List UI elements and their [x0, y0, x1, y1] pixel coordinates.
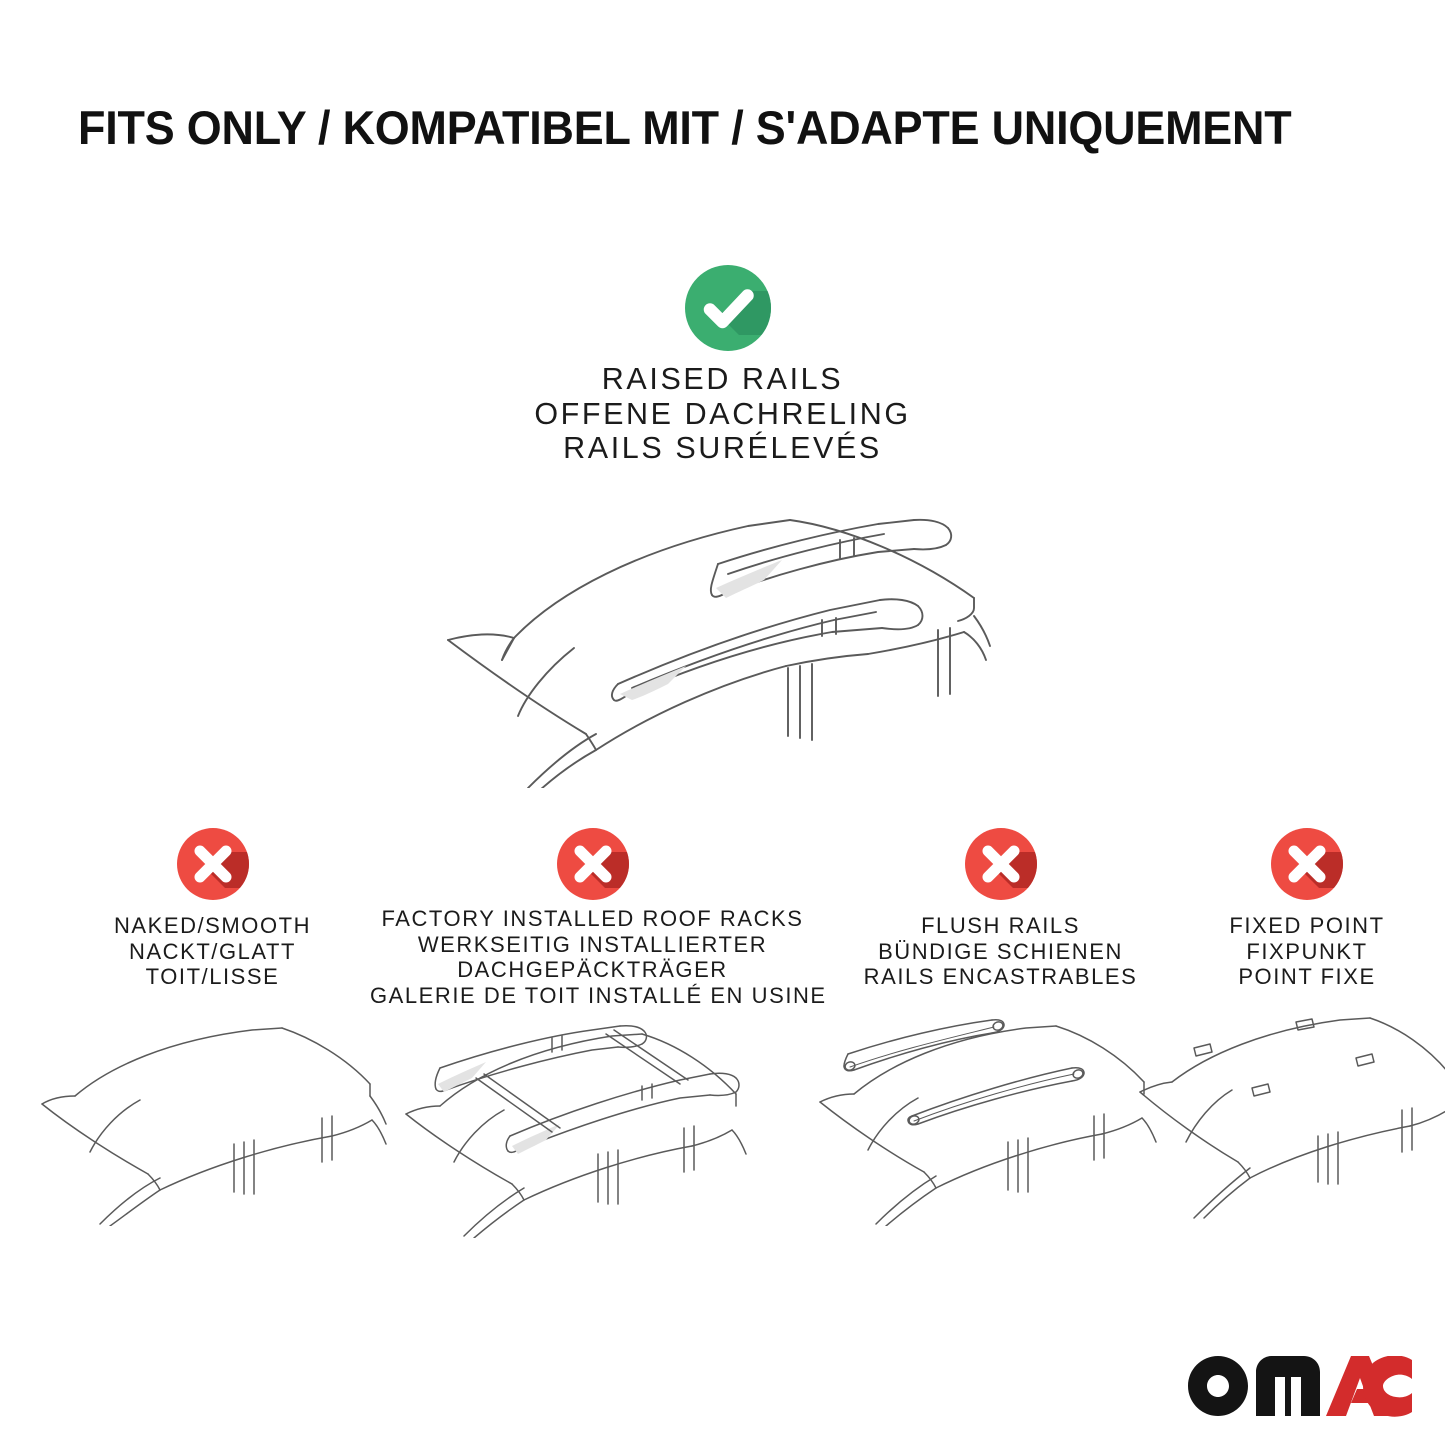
option-line-fr: TOIT/LISSE [25, 964, 400, 990]
car-roof-with-fixed-points-illustration [1132, 996, 1445, 1226]
option-line-en: FLUSH RAILS [828, 913, 1173, 939]
x-circle-icon [955, 818, 1047, 915]
compatible-label: RAISED RAILS OFFENE DACHRELING RAILS SUR… [0, 362, 1445, 466]
option-line-de: FIXPUNKT [1172, 939, 1442, 965]
option-label: NAKED/SMOOTH NACKT/GLATT TOIT/LISSE [25, 913, 400, 990]
option-line-fr: RAILS ENCASTRABLES [828, 964, 1173, 990]
omac-logo [1188, 1356, 1412, 1422]
option-line-de: NACKT/GLATT [25, 939, 400, 965]
option-line-fr: GALERIE DE TOIT INSTALLÉ EN USINE [370, 983, 815, 1009]
page-title: FITS ONLY / KOMPATIBEL MIT / S'ADAPTE UN… [78, 104, 1320, 151]
option-label: FACTORY INSTALLED ROOF RACKS WERKSEITIG … [370, 906, 815, 1008]
option-line-de-1: WERKSEITIG INSTALLIERTER [370, 932, 815, 958]
car-roof-bare-smooth-illustration [20, 996, 390, 1226]
option-label: FIXED POINT FIXPUNKT POINT FIXE [1172, 913, 1442, 990]
option-line-de: BÜNDIGE SCHIENEN [828, 939, 1173, 965]
option-label: FLUSH RAILS BÜNDIGE SCHIENEN RAILS ENCAS… [828, 913, 1173, 990]
x-circle-icon [547, 818, 639, 915]
x-circle-icon [1261, 818, 1353, 915]
car-roof-with-raised-rails-illustration [418, 488, 998, 793]
option-line-fr: POINT FIXE [1172, 964, 1442, 990]
option-line-en: FIXED POINT [1172, 913, 1442, 939]
x-circle-icon [167, 818, 259, 915]
check-circle-icon [673, 253, 783, 363]
car-roof-with-factory-crossbars-illustration [380, 1008, 760, 1238]
car-roof-with-flush-rails-illustration [788, 996, 1168, 1226]
compatible-line-de: OFFENE DACHRELING [0, 397, 1445, 432]
compatible-line-fr: RAILS SURÉLEVÉS [0, 431, 1445, 466]
compatible-line-en: RAISED RAILS [0, 362, 1445, 397]
option-line-en: NAKED/SMOOTH [25, 913, 400, 939]
option-line-en: FACTORY INSTALLED ROOF RACKS [370, 906, 815, 932]
option-line-de-2: DACHGEPÄCKTRÄGER [370, 957, 815, 983]
